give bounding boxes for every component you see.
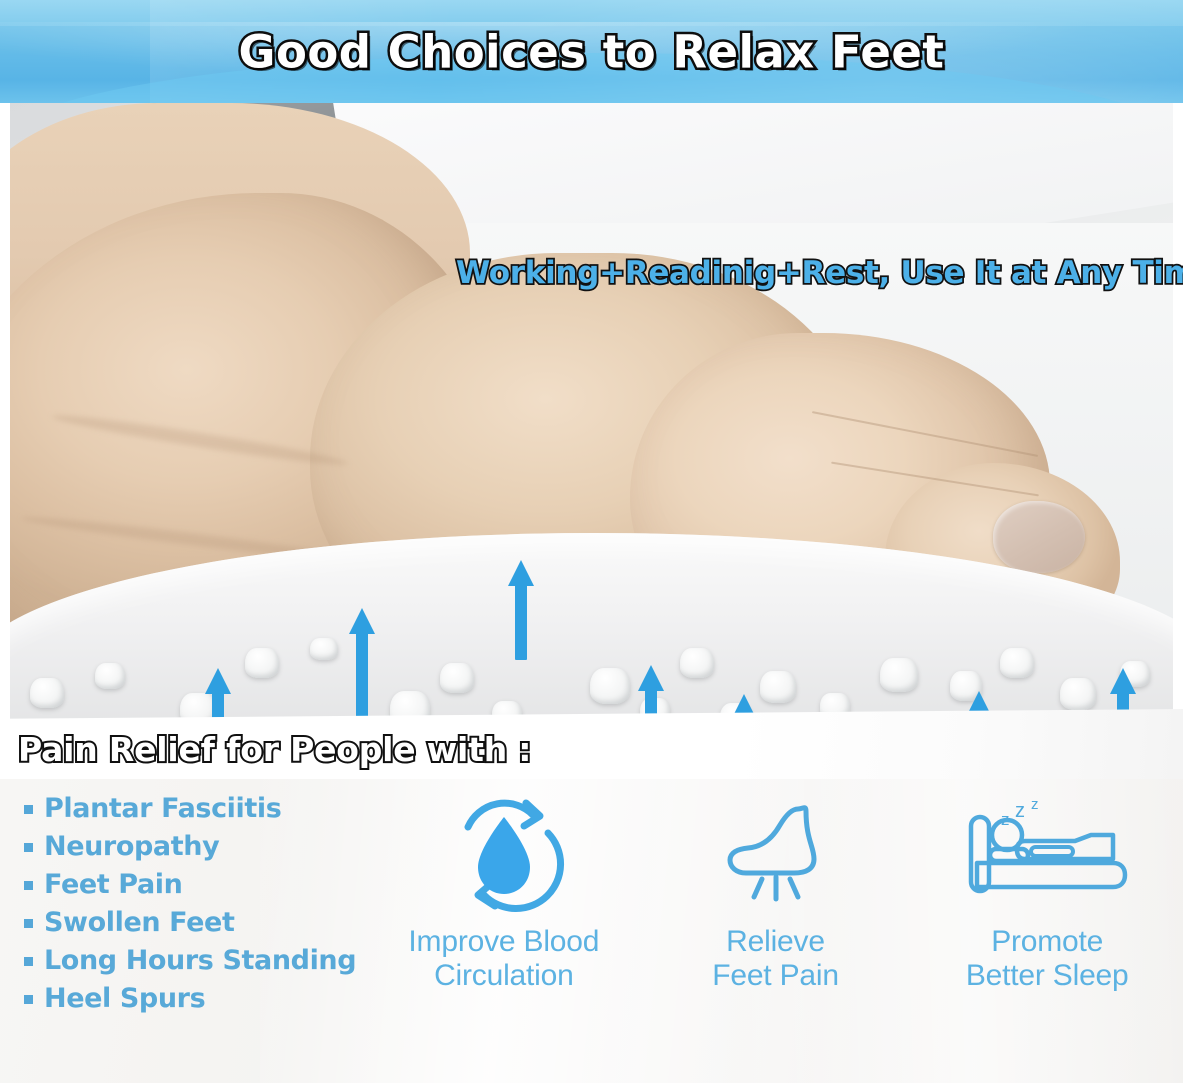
pressure-arrow [508, 560, 534, 660]
water-drop-circulation-icon [438, 789, 570, 919]
massage-nub [245, 648, 279, 678]
condition-label: Swollen Feet [44, 907, 234, 938]
massage-nub [95, 663, 125, 689]
header-banner: Good Choices to Relax Feet [0, 0, 1183, 103]
list-item: Feet Pain [24, 869, 356, 900]
massage-nub [310, 638, 338, 660]
massage-nub [880, 658, 918, 692]
benefit-label: Improve Blood Circulation [408, 925, 599, 992]
page-title: Good Choices to Relax Feet [0, 25, 1183, 78]
benefit-label-line2: Circulation [408, 959, 599, 993]
bullet-square-icon [24, 957, 33, 966]
condition-label: Neuropathy [44, 831, 219, 862]
massage-nub [1000, 648, 1034, 678]
massage-nub [1060, 678, 1096, 710]
arrow-shaft [515, 582, 527, 660]
condition-label: Plantar Fasciitis [44, 793, 281, 824]
benefit-label-line2: Better Sleep [966, 959, 1129, 993]
product-photo: Working+Readinig+Rest, Use It at Any Tim… [0, 103, 1183, 779]
benefit-label-line1: Improve Blood [408, 925, 599, 959]
benefit-improve-blood-circulation: Improve Blood Circulation [368, 789, 640, 992]
arrow-shaft [356, 630, 368, 718]
bed-base [977, 863, 1125, 887]
massage-nub [590, 668, 630, 704]
photo-subtitle: Working+Readinig+Rest, Use It at Any Tim… [456, 255, 1183, 291]
bullet-square-icon [24, 995, 33, 1004]
bullet-square-icon [24, 881, 33, 890]
zzz-large: z [1031, 796, 1039, 813]
massage-nub [680, 648, 714, 678]
photo-left-border [0, 103, 10, 779]
photo-right-border [1173, 103, 1183, 779]
benefits-panel: Plantar Fasciitis Neuropathy Feet Pain S… [0, 779, 1183, 1083]
benefit-label-line1: Relieve [712, 925, 839, 959]
benefit-relieve-feet-pain: Relieve Feet Pain [640, 789, 912, 992]
list-item: Neuropathy [24, 831, 356, 862]
foot-pain-relief-icon [710, 789, 842, 919]
conditions-list: Plantar Fasciitis Neuropathy Feet Pain S… [24, 793, 356, 1021]
benefit-label-line2: Feet Pain [712, 959, 839, 993]
headboard [971, 817, 989, 891]
product-infographic: Good Choices to Relax Feet [0, 0, 1183, 1083]
toenail [993, 501, 1085, 573]
bullet-square-icon [24, 805, 33, 814]
massage-nub [440, 663, 474, 693]
list-item: Heel Spurs [24, 983, 356, 1014]
bullet-square-icon [24, 919, 33, 928]
condition-label: Heel Spurs [44, 983, 205, 1014]
condition-label: Feet Pain [44, 869, 182, 900]
sleeping-person-bed-icon: z z z [963, 789, 1131, 919]
pressure-arrow [349, 608, 375, 718]
zzz-mid: z [1015, 800, 1025, 822]
massage-nub [30, 678, 64, 708]
massage-nub [760, 671, 796, 703]
benefits-row: Improve Blood Circulation Relieve Feet [368, 789, 1183, 1079]
condition-label: Long Hours Standing [44, 945, 356, 976]
benefit-label: Promote Better Sleep [966, 925, 1129, 992]
benefit-label-line1: Promote [966, 925, 1129, 959]
list-item: Long Hours Standing [24, 945, 356, 976]
bullet-square-icon [24, 843, 33, 852]
benefit-promote-better-sleep: z z z Promote Better Sleep [911, 789, 1183, 992]
arm [1031, 847, 1073, 856]
pain-relief-title: Pain Relief for People with : [18, 730, 531, 769]
benefit-label: Relieve Feet Pain [712, 925, 839, 992]
list-item: Swollen Feet [24, 907, 356, 938]
list-item: Plantar Fasciitis [24, 793, 356, 824]
